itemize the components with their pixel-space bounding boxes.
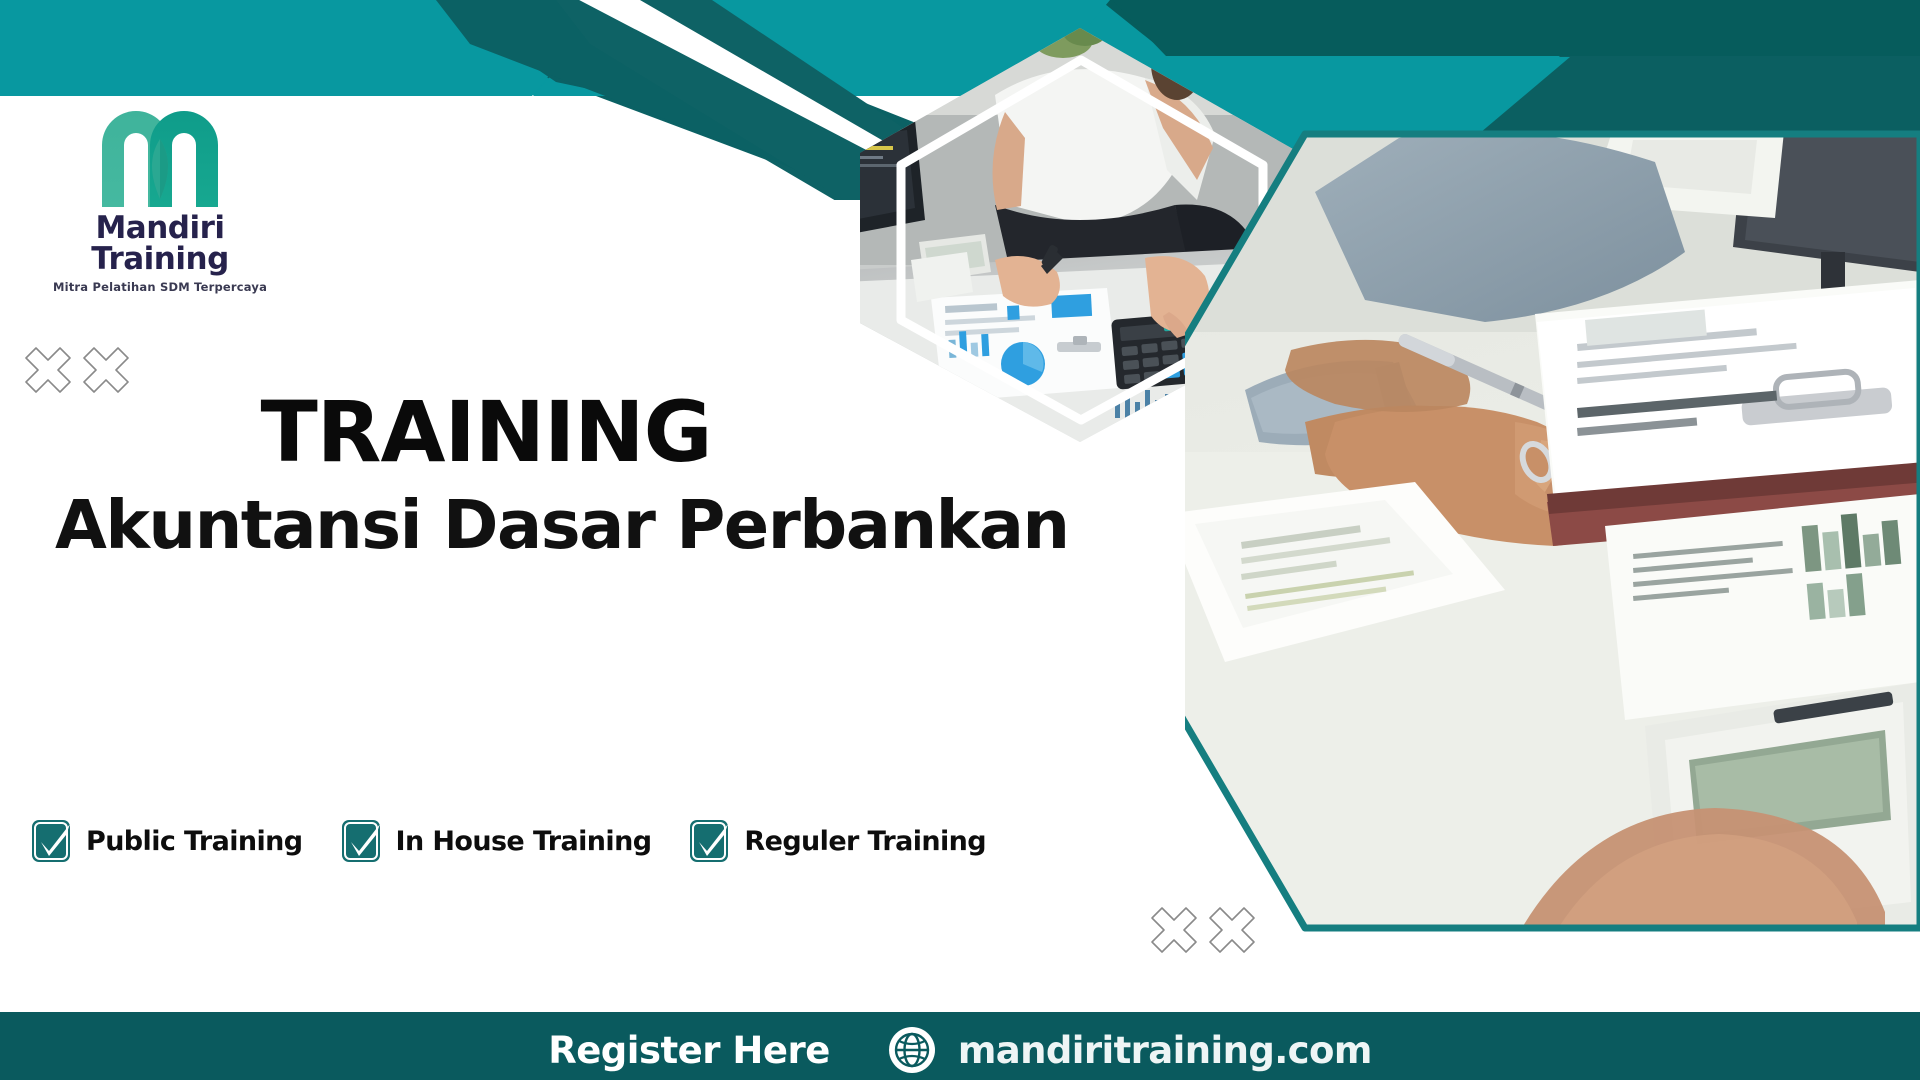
- brand-name: Mandiri Training: [30, 213, 290, 275]
- x-cross-outline-icon-right: [1148, 902, 1258, 968]
- check-square-icon: [340, 818, 382, 864]
- list-item[interactable]: Reguler Training: [688, 818, 986, 864]
- brand-tagline: Mitra Pelatihan SDM Terpercaya: [30, 282, 290, 294]
- website-url[interactable]: mandiritraining.com: [958, 1029, 1372, 1072]
- mandiri-m-logo-icon: [84, 95, 236, 207]
- visible-stripe-light: [0, 0, 612, 96]
- training-promo-banner: Mandiri Training Mitra Pelatihan SDM Ter…: [0, 0, 1920, 1080]
- footer-bar: Register Here mandiritraining.com: [0, 1012, 1920, 1080]
- training-type-list: Public Training In House Training Regule…: [30, 818, 1023, 864]
- headline-block: TRAINING Akuntansi Dasar Perbankan: [55, 390, 905, 560]
- list-item[interactable]: Public Training: [30, 818, 303, 864]
- right-photo-panel: [1185, 122, 1920, 940]
- page-title-eyebrow: TRAINING: [55, 390, 905, 476]
- brand-logo-block[interactable]: Mandiri Training Mitra Pelatihan SDM Ter…: [30, 95, 290, 294]
- check-square-icon: [30, 818, 72, 864]
- register-here-label: Register Here: [548, 1029, 830, 1072]
- list-item[interactable]: In House Training: [340, 818, 652, 864]
- top-light-band: [0, 0, 610, 96]
- list-item-label: Public Training: [86, 826, 303, 857]
- right-photo-content: [1185, 122, 1920, 940]
- teal-band-top-left: [0, 0, 620, 95]
- page-title: Akuntansi Dasar Perbankan: [55, 490, 905, 560]
- globe-icon: [888, 1026, 936, 1074]
- list-item-label: In House Training: [396, 826, 652, 857]
- check-square-icon: [688, 818, 730, 864]
- list-item-label: Reguler Training: [744, 826, 986, 857]
